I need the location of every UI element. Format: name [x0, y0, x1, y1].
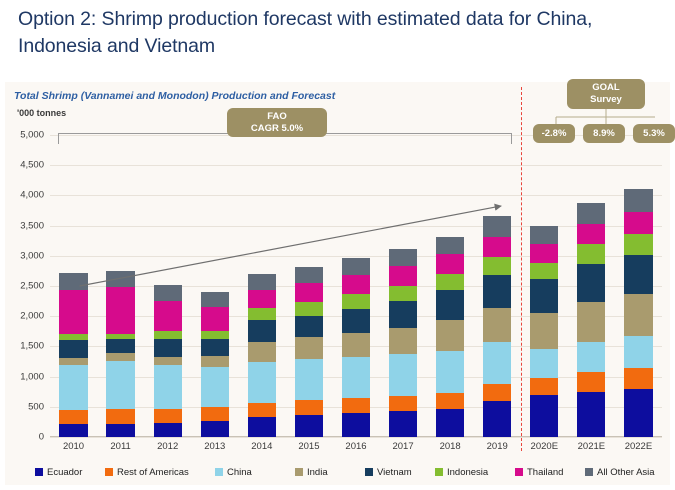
bar-segment-india[interactable]	[59, 358, 87, 365]
bar-segment-india[interactable]	[624, 294, 652, 336]
bar-segment-india[interactable]	[577, 302, 605, 342]
bar-segment-ecuador[interactable]	[483, 401, 511, 437]
bar-segment-ecuador[interactable]	[295, 415, 323, 437]
growth-badge-2020e: -2.8%	[533, 124, 575, 143]
bar-segment-rest-of-americas[interactable]	[436, 393, 464, 409]
bar-segment-thailand[interactable]	[295, 283, 323, 302]
y-axis-tick-label: 1,500	[20, 341, 44, 352]
bar-segment-rest-of-americas[interactable]	[530, 378, 558, 395]
legend-item-all-other-asia[interactable]: All Other Asia	[585, 467, 655, 478]
bar-segment-indonesia[interactable]	[577, 244, 605, 264]
bar-segment-indonesia[interactable]	[624, 234, 652, 255]
bar-segment-china[interactable]	[154, 365, 182, 409]
bar-segment-rest-of-americas[interactable]	[201, 407, 229, 421]
x-axis-tick-label: 2017	[392, 441, 413, 452]
bar-segment-indonesia[interactable]	[436, 274, 464, 290]
bar-segment-all-other-asia[interactable]	[106, 271, 134, 287]
bar-segment-rest-of-americas[interactable]	[295, 400, 323, 414]
bar-segment-thailand[interactable]	[59, 290, 87, 334]
x-axis-tick-label: 2015	[298, 441, 319, 452]
bar-column[interactable]	[530, 226, 558, 437]
bar-segment-china[interactable]	[436, 351, 464, 393]
page-title: Option 2: Shrimp production forecast wit…	[18, 6, 648, 60]
x-axis-tick-label: 2020E	[531, 441, 558, 452]
gridline	[50, 195, 662, 196]
bar-segment-india[interactable]	[295, 337, 323, 359]
legend-item-china[interactable]: China	[215, 467, 252, 478]
bar-segment-china[interactable]	[342, 357, 370, 398]
legend-item-vietnam[interactable]: Vietnam	[365, 467, 412, 478]
y-axis-tick-label: 0	[39, 432, 44, 443]
chart-legend: EcuadorRest of AmericasChinaIndiaVietnam…	[5, 461, 670, 483]
bar-segment-india[interactable]	[201, 356, 229, 367]
gridline	[50, 437, 662, 438]
bar-segment-thailand[interactable]	[530, 244, 558, 263]
bar-segment-china[interactable]	[201, 367, 229, 407]
gridline	[50, 165, 662, 166]
bar-column[interactable]	[248, 274, 276, 437]
bar-segment-thailand[interactable]	[483, 237, 511, 258]
bar-segment-ecuador[interactable]	[342, 413, 370, 437]
bar-column[interactable]	[106, 271, 134, 437]
legend-item-india[interactable]: India	[295, 467, 328, 478]
x-axis-tick-label: 2016	[345, 441, 366, 452]
x-axis-tick-label: 2019	[487, 441, 508, 452]
legend-swatch	[365, 468, 373, 476]
goal-survey-callout: GOAL Survey	[567, 79, 645, 109]
fao-callout-line2: CAGR 5.0%	[251, 123, 303, 135]
bar-segment-ecuador[interactable]	[530, 395, 558, 437]
bar-segment-china[interactable]	[624, 336, 652, 368]
bar-segment-thailand[interactable]	[436, 254, 464, 274]
y-axis-tick-label: 3,500	[20, 220, 44, 231]
bar-segment-india[interactable]	[106, 353, 134, 361]
bar-segment-all-other-asia[interactable]	[530, 226, 558, 244]
slide: Option 2: Shrimp production forecast wit…	[0, 0, 675, 490]
bar-segment-all-other-asia[interactable]	[201, 292, 229, 306]
legend-swatch	[35, 468, 43, 476]
x-axis-tick-label: 2010	[63, 441, 84, 452]
legend-swatch	[515, 468, 523, 476]
bar-segment-vietnam[interactable]	[248, 320, 276, 342]
bar-segment-all-other-asia[interactable]	[577, 203, 605, 224]
bar-segment-china[interactable]	[295, 359, 323, 400]
bar-segment-thailand[interactable]	[201, 307, 229, 331]
bar-segment-thailand[interactable]	[154, 301, 182, 331]
legend-label: Indonesia	[447, 467, 488, 478]
y-axis-tick-label: 2,000	[20, 311, 44, 322]
bar-segment-all-other-asia[interactable]	[295, 267, 323, 283]
goal-callout-line1: GOAL	[590, 82, 622, 94]
fao-callout-line1: FAO	[251, 111, 303, 123]
bar-segment-all-other-asia[interactable]	[154, 285, 182, 301]
bar-segment-rest-of-americas[interactable]	[624, 368, 652, 389]
bar-segment-vietnam[interactable]	[154, 339, 182, 357]
chart-subtitle: Total Shrimp (Vannamei and Monodon) Prod…	[14, 90, 335, 102]
bar-segment-vietnam[interactable]	[577, 264, 605, 301]
bar-segment-thailand[interactable]	[624, 212, 652, 233]
bar-segment-thailand[interactable]	[248, 290, 276, 308]
legend-swatch	[435, 468, 443, 476]
bar-segment-india[interactable]	[436, 320, 464, 350]
bar-segment-ecuador[interactable]	[248, 417, 276, 437]
goal-callout-line2: Survey	[590, 94, 622, 106]
bar-segment-rest-of-americas[interactable]	[106, 409, 134, 423]
bar-segment-vietnam[interactable]	[342, 309, 370, 333]
bar-segment-vietnam[interactable]	[530, 279, 558, 313]
y-axis-tick-label: 4,000	[20, 190, 44, 201]
bar-segment-india[interactable]	[483, 308, 511, 342]
legend-label: All Other Asia	[597, 467, 655, 478]
bar-segment-rest-of-americas[interactable]	[342, 398, 370, 412]
bar-column[interactable]	[154, 285, 182, 437]
y-axis-tick-label: 3,000	[20, 250, 44, 261]
bar-segment-ecuador[interactable]	[201, 421, 229, 437]
bar-segment-all-other-asia[interactable]	[389, 249, 417, 267]
bar-segment-rest-of-americas[interactable]	[248, 403, 276, 417]
legend-item-thailand[interactable]: Thailand	[515, 467, 563, 478]
bar-column[interactable]	[577, 203, 605, 437]
y-axis-tick-label: 1,000	[20, 371, 44, 382]
bar-segment-all-other-asia[interactable]	[342, 258, 370, 275]
y-axis-tick-label: 2,500	[20, 281, 44, 292]
bar-segment-india[interactable]	[389, 328, 417, 354]
bar-segment-vietnam[interactable]	[483, 275, 511, 308]
bar-segment-india[interactable]	[248, 342, 276, 361]
bar-segment-indonesia[interactable]	[530, 263, 558, 279]
bar-segment-china[interactable]	[59, 365, 87, 411]
x-axis-tick-label: 2014	[251, 441, 272, 452]
bar-segment-rest-of-americas[interactable]	[154, 409, 182, 423]
bar-segment-vietnam[interactable]	[389, 301, 417, 328]
legend-swatch	[105, 468, 113, 476]
bar-segment-indonesia[interactable]	[295, 302, 323, 316]
bar-segment-thailand[interactable]	[106, 287, 134, 335]
x-axis-tick-label: 2021E	[578, 441, 605, 452]
bar-column[interactable]	[342, 258, 370, 437]
x-axis-tick-label: 2013	[204, 441, 225, 452]
bar-segment-ecuador[interactable]	[106, 424, 134, 437]
bar-column[interactable]	[295, 267, 323, 437]
bar-segment-vietnam[interactable]	[59, 340, 87, 358]
bar-segment-china[interactable]	[577, 342, 605, 372]
bar-segment-vietnam[interactable]	[436, 290, 464, 320]
bar-column[interactable]	[436, 236, 464, 437]
x-axis-tick-label: 2018	[440, 441, 461, 452]
y-axis-tick-label: 500	[28, 401, 44, 412]
bar-column[interactable]	[483, 216, 511, 437]
bar-segment-indonesia[interactable]	[248, 308, 276, 319]
bar-segment-china[interactable]	[106, 361, 134, 409]
bar-segment-rest-of-americas[interactable]	[483, 384, 511, 400]
bar-segment-indonesia[interactable]	[483, 257, 511, 275]
bar-segment-thailand[interactable]	[577, 224, 605, 245]
bar-segment-ecuador[interactable]	[436, 409, 464, 437]
bar-segment-ecuador[interactable]	[59, 424, 87, 437]
growth-badge-2021e: 8.9%	[583, 124, 625, 143]
bar-column[interactable]	[389, 249, 417, 437]
bar-segment-vietnam[interactable]	[624, 255, 652, 294]
bar-segment-vietnam[interactable]	[106, 339, 134, 353]
legend-item-ecuador[interactable]: Ecuador	[35, 467, 82, 478]
growth-badge-2022e: 5.3%	[633, 124, 675, 143]
bar-column[interactable]	[624, 189, 652, 437]
plot-area: 05001,0001,5002,0002,5003,0003,5004,0004…	[50, 135, 662, 437]
x-axis-tick-label: 2011	[110, 441, 130, 452]
bar-segment-vietnam[interactable]	[295, 316, 323, 337]
bar-segment-all-other-asia[interactable]	[59, 273, 87, 290]
legend-label: Ecuador	[47, 467, 82, 478]
legend-label: Vietnam	[377, 467, 412, 478]
legend-swatch	[585, 468, 593, 476]
y-axis-units-label: '000 tonnes	[17, 108, 66, 118]
legend-item-indonesia[interactable]: Indonesia	[435, 467, 488, 478]
legend-swatch	[215, 468, 223, 476]
legend-label: China	[227, 467, 252, 478]
bar-segment-all-other-asia[interactable]	[248, 274, 276, 290]
bar-segment-india[interactable]	[530, 313, 558, 350]
goal-connector-lines	[525, 109, 655, 125]
chart-panel: Total Shrimp (Vannamei and Monodon) Prod…	[5, 82, 670, 485]
forecast-divider-line	[521, 87, 522, 451]
bar-segment-all-other-asia[interactable]	[624, 189, 652, 212]
bar-segment-thailand[interactable]	[342, 275, 370, 294]
bar-segment-indonesia[interactable]	[342, 294, 370, 309]
legend-label: India	[307, 467, 328, 478]
legend-item-rest-of-americas[interactable]: Rest of Americas	[105, 467, 189, 478]
bar-segment-china[interactable]	[389, 354, 417, 396]
y-axis-tick-label: 4,500	[20, 160, 44, 171]
bar-column[interactable]	[201, 292, 229, 437]
x-axis-tick-label: 2012	[157, 441, 178, 452]
legend-label: Rest of Americas	[117, 467, 189, 478]
bar-segment-vietnam[interactable]	[201, 339, 229, 357]
bar-segment-thailand[interactable]	[389, 266, 417, 286]
bar-segment-indonesia[interactable]	[389, 286, 417, 301]
bar-segment-indonesia[interactable]	[201, 331, 229, 339]
bar-segment-ecuador[interactable]	[577, 392, 605, 437]
fao-cagr-callout: FAO CAGR 5.0%	[227, 108, 327, 137]
bar-segment-rest-of-americas[interactable]	[577, 372, 605, 392]
bar-segment-all-other-asia[interactable]	[436, 237, 464, 255]
bar-segment-rest-of-americas[interactable]	[389, 396, 417, 411]
gridline	[50, 256, 662, 257]
bar-column[interactable]	[59, 273, 87, 437]
bar-segment-all-other-asia[interactable]	[483, 216, 511, 237]
bar-segment-china[interactable]	[530, 349, 558, 377]
gridline	[50, 226, 662, 227]
bar-segment-rest-of-americas[interactable]	[59, 410, 87, 424]
bar-segment-ecuador[interactable]	[389, 411, 417, 437]
bar-segment-india[interactable]	[154, 357, 182, 365]
bar-segment-china[interactable]	[483, 342, 511, 385]
legend-swatch	[295, 468, 303, 476]
x-axis-tick-label: 2022E	[625, 441, 652, 452]
bar-segment-india[interactable]	[342, 333, 370, 357]
bar-segment-china[interactable]	[248, 362, 276, 403]
bar-segment-indonesia[interactable]	[154, 331, 182, 339]
legend-label: Thailand	[527, 467, 563, 478]
bar-segment-ecuador[interactable]	[624, 389, 652, 437]
bar-segment-ecuador[interactable]	[154, 423, 182, 437]
y-axis-tick-label: 5,000	[20, 130, 44, 141]
